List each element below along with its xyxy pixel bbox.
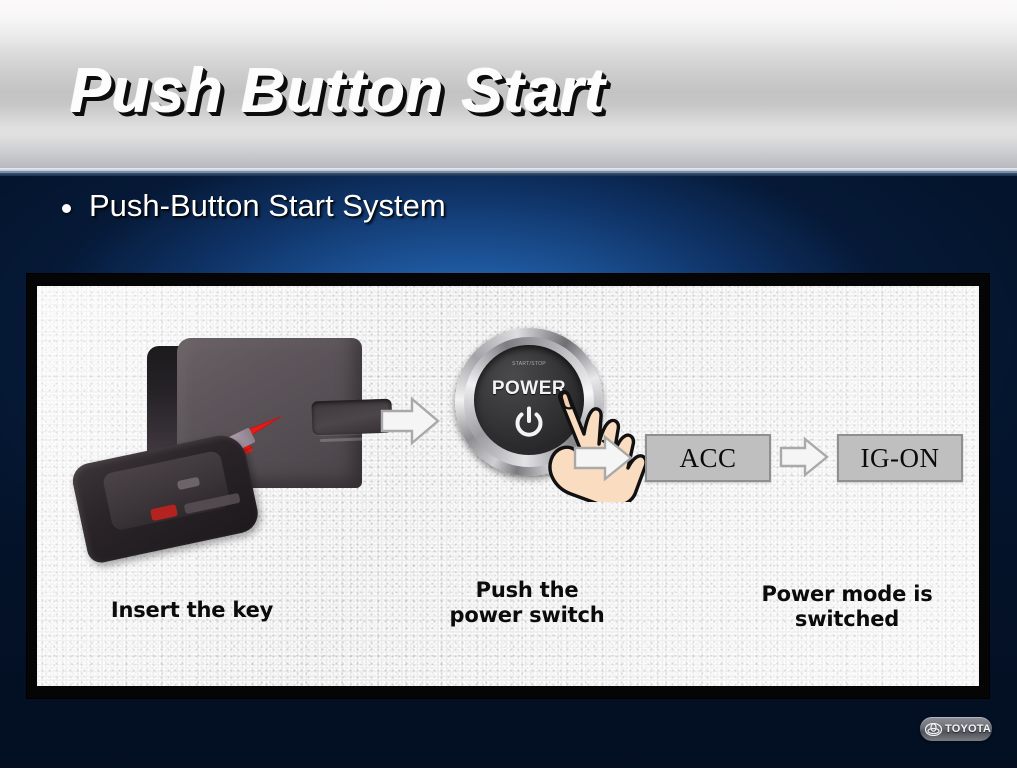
key-fob-panic-button — [150, 504, 178, 521]
toyota-emblem-icon — [925, 723, 942, 736]
mode-box-acc: ACC — [645, 434, 771, 482]
caption-line: Power mode is — [717, 582, 977, 607]
flow-arrow-3-icon — [779, 436, 829, 478]
key-fob-face — [102, 450, 231, 532]
key-fob — [70, 431, 262, 565]
power-switch-micro-label: START/STOP — [474, 362, 584, 367]
key-fob-button-top — [177, 477, 200, 490]
toyota-logo-text: TOYOTA — [945, 723, 991, 735]
slide-canvas: Push Button Start Push-Button Start Syst… — [0, 0, 1017, 768]
title-band-divider-dark — [0, 173, 1017, 176]
bullet-item: Push-Button Start System — [62, 188, 446, 224]
caption-line: power switch — [407, 603, 647, 628]
flow-arrow-2-icon — [573, 434, 633, 482]
page-title: Push Button Start — [70, 56, 605, 127]
flow-arrow-1-icon — [380, 396, 440, 446]
diagram-canvas: START/STOP POWER ACC — [37, 286, 979, 686]
key-insert-photo — [72, 338, 362, 553]
caption-line: Insert the key — [77, 598, 307, 623]
mode-box-ig-on: IG-ON — [837, 434, 963, 482]
caption-power-mode: Power mode is switched — [717, 582, 977, 632]
diagram-panel: START/STOP POWER ACC — [27, 274, 989, 698]
bullet-item-label: Push-Button Start System — [89, 188, 446, 224]
caption-insert-key: Insert the key — [77, 598, 307, 623]
caption-line: switched — [717, 607, 977, 632]
toyota-logo-badge: TOYOTA — [920, 717, 992, 741]
caption-push-switch: Push the power switch — [407, 578, 647, 628]
key-fob-button-bottom — [184, 493, 241, 514]
caption-line: Push the — [407, 578, 647, 603]
bullet-dot-icon — [62, 204, 71, 213]
